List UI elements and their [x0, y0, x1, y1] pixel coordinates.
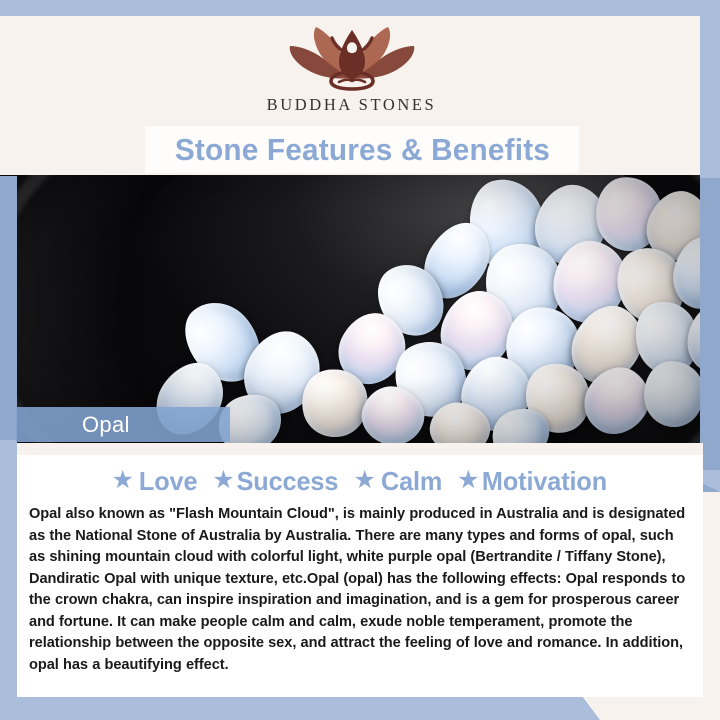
photo-vignette [0, 175, 706, 443]
benefit-label: Success [236, 466, 338, 497]
star-icon: ★ [457, 468, 479, 493]
frame-left-band-light [0, 440, 17, 720]
page-title: Stone Features & Benefits [174, 132, 549, 168]
benefits-row: ★ Love ★ Success ★ Calm ★ Motivation [17, 455, 703, 497]
star-icon: ★ [212, 468, 234, 493]
benefit-label: Motivation [481, 466, 606, 497]
star-icon: ★ [353, 468, 375, 493]
benefit-item-motivation: ★ Motivation [457, 466, 608, 497]
star-icon: ★ [112, 468, 134, 493]
frame-bottom-band [0, 696, 600, 720]
product-photo [0, 175, 706, 443]
benefit-label: Love [139, 466, 197, 497]
lotus-meditation-icon [277, 22, 427, 94]
stone-description: Opal also known as "Flash Mountain Cloud… [29, 504, 691, 676]
info-card: ★ Love ★ Success ★ Calm ★ Motivation Opa… [17, 455, 703, 697]
brand-logo: BUDDHA STONES [0, 22, 703, 122]
stone-name-badge: Opal [16, 407, 230, 442]
benefit-label: Calm [381, 466, 442, 497]
frame-top-band [0, 0, 720, 17]
stone-name-label: Opal [82, 412, 130, 438]
card-gap-strip [17, 443, 703, 455]
benefit-item-success: ★ Success [212, 466, 339, 497]
headline-band: Stone Features & Benefits [145, 126, 579, 173]
benefit-item-love: ★ Love [112, 466, 199, 497]
benefit-item-calm: ★ Calm [353, 466, 443, 497]
brand-name: BUDDHA STONES [267, 95, 437, 115]
frame-right-band-light [700, 0, 720, 178]
